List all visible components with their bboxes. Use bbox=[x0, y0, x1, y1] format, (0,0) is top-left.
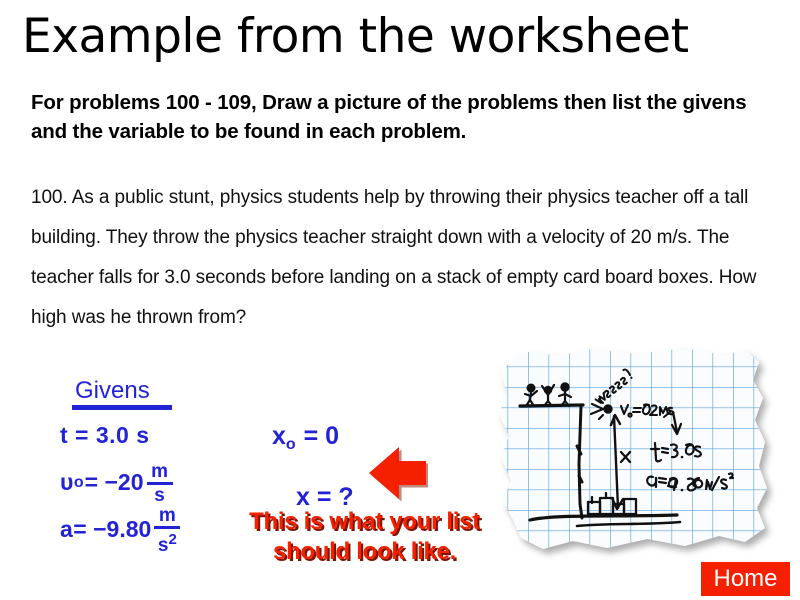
callout-caption: This is what your list should look like. bbox=[222, 507, 507, 567]
given-acceleration-value: = −9.80 bbox=[73, 516, 151, 543]
fraction-bar bbox=[154, 526, 180, 529]
unit-denominator: s2 bbox=[155, 530, 180, 555]
given-velocity-value: = −20 bbox=[85, 469, 144, 496]
given-acceleration-units: m s2 bbox=[154, 506, 180, 555]
unit-numerator: m bbox=[156, 506, 179, 525]
x-initial-symbol: x bbox=[272, 422, 286, 450]
page-title: Example from the worksheet bbox=[22, 8, 782, 66]
graph-paper-grid bbox=[487, 346, 789, 568]
given-time-expression: t = 3.0 s bbox=[60, 422, 150, 449]
given-row-initial-velocity: υo = −20 m s bbox=[60, 459, 180, 506]
given-velocity-units: m s bbox=[147, 462, 173, 505]
givens-block: Givens t = 3.0 s υo = −20 m s a = −9.80 … bbox=[60, 378, 180, 553]
given-row-acceleration: a = −9.80 m s2 bbox=[60, 506, 180, 553]
x-initial-value: = 0 bbox=[297, 422, 339, 450]
unknown-initial-position: xo = 0 bbox=[272, 410, 354, 471]
unit-den-exponent: 2 bbox=[168, 531, 176, 548]
given-velocity-symbol: υ bbox=[60, 469, 74, 496]
unit-numerator: m bbox=[148, 462, 171, 481]
givens-heading: Givens bbox=[60, 378, 180, 404]
unit-denominator: s bbox=[151, 486, 168, 505]
unit-den-base: s bbox=[158, 535, 169, 556]
instructions-text: For problems 100 - 109, Draw a picture o… bbox=[31, 88, 761, 146]
x-initial-subscript: o bbox=[286, 436, 297, 453]
callout-caption-line-1: This is what your list bbox=[222, 507, 507, 537]
given-acceleration-symbol: a bbox=[60, 516, 73, 543]
handwritten-sketch-image bbox=[487, 346, 789, 568]
givens-underline bbox=[72, 405, 172, 410]
problem-statement: 100. As a public stunt, physics students… bbox=[31, 178, 776, 338]
given-row-time: t = 3.0 s bbox=[60, 412, 180, 459]
given-velocity-subscript: o bbox=[74, 474, 85, 492]
callout-arrow-left-icon bbox=[366, 444, 428, 502]
home-button[interactable]: Home bbox=[701, 562, 790, 596]
callout-caption-line-2: should look like. bbox=[222, 537, 507, 567]
